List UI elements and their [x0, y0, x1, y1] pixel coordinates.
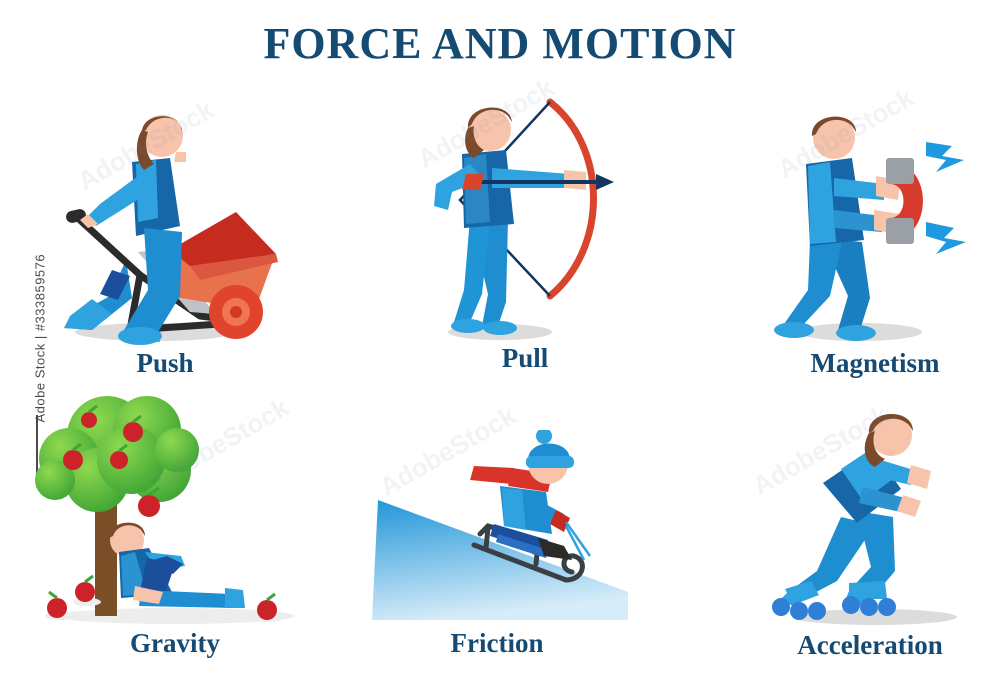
caption-magnetism: Magnetism — [750, 348, 1000, 379]
caption-acceleration: Acceleration — [745, 630, 995, 661]
caption-pull: Pull — [400, 343, 650, 374]
caption-gravity: Gravity — [35, 628, 315, 659]
cell-pull: Pull AdobeStock — [400, 88, 650, 388]
illustration-pull — [400, 88, 650, 348]
caption-friction: Friction — [352, 628, 642, 659]
poster: FORCE AND MOTION Adobe Stock | #33385957… — [0, 0, 1000, 677]
illustration-friction — [352, 430, 642, 625]
illustration-gravity — [35, 388, 315, 628]
illustration-acceleration — [745, 405, 995, 630]
page-title: FORCE AND MOTION — [0, 18, 1000, 69]
illustration-magnetism — [750, 100, 1000, 350]
illustration-push — [40, 100, 290, 350]
cell-push: Push AdobeStock — [40, 100, 290, 385]
cell-acceleration: Acceleration AdobeStock — [745, 405, 995, 658]
cell-gravity: Gravity AdobeStock — [35, 388, 315, 658]
cell-magnetism: Magnetism AdobeStock — [750, 100, 1000, 385]
caption-push: Push — [40, 348, 290, 379]
cell-friction: Friction AdobeStock — [352, 430, 642, 658]
